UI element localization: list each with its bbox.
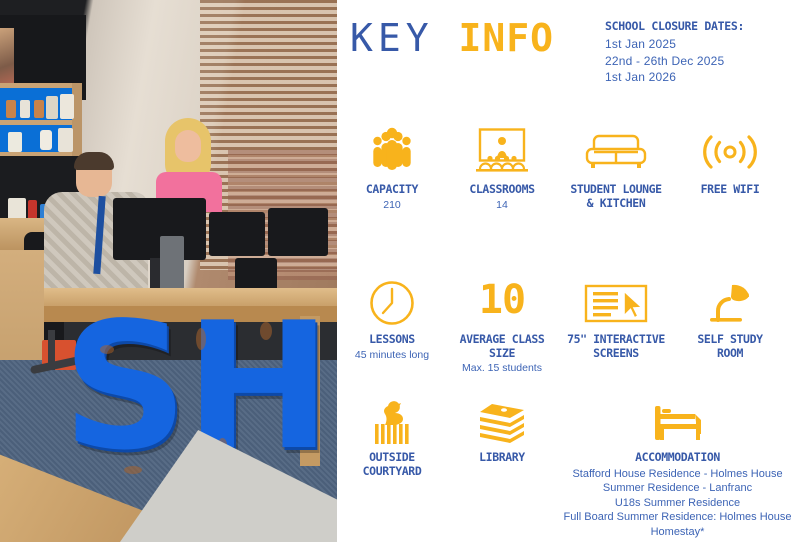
sign-letter-s: S (62, 300, 188, 475)
bed-icon (557, 400, 798, 444)
feature-label: LESSONS (337, 333, 447, 347)
photo-monitor-3 (268, 208, 328, 256)
photo-paint-wear-4 (124, 466, 142, 474)
photo-shelf-trophy-1 (6, 100, 16, 118)
feature-interactive-screens: 75" INTERACTIVE SCREENS (557, 274, 675, 360)
feature-capacity: CAPACITY 210 (337, 124, 447, 212)
accommodation-options: Stafford House Residence - Holmes House … (557, 467, 798, 540)
key-info-page: S H KEY INFO SCHOOL CLOSURE DATES: 1st J… (0, 0, 798, 542)
feature-outside-courtyard: OUTSIDE COURTYARD (337, 400, 447, 478)
average-class-size-number: 10 (479, 278, 525, 322)
wifi-icon (675, 124, 785, 176)
photo-wall-artwork (0, 28, 14, 90)
feature-sub: Max. 15 students (447, 361, 557, 375)
feature-label: STUDENT LOUNGE & KITCHEN (557, 183, 675, 210)
photo-shelf-trophy-3 (34, 100, 44, 118)
feature-value: 14 (447, 198, 557, 212)
sofa-icon (557, 124, 675, 176)
feature-accommodation: ACCOMMODATION Stafford House Residence -… (557, 400, 798, 539)
feature-average-class-size: 10 AVERAGE CLASS SIZE Max. 15 students (447, 274, 557, 375)
classroom-icon (447, 124, 557, 176)
people-group-icon (337, 124, 447, 176)
photo-shelf-middle (0, 120, 78, 125)
feature-free-wifi: FREE WIFI (675, 124, 785, 197)
photo-person-man-hair (74, 152, 114, 170)
feature-value: 210 (337, 198, 447, 212)
feature-lessons: LESSONS 45 minutes long (337, 274, 447, 362)
photo-paint-wear-3 (260, 322, 272, 340)
photo-person-woman-face (175, 130, 201, 162)
bird-fence-icon (337, 400, 447, 444)
photo-shelf-mug (8, 132, 22, 152)
feature-label: OUTSIDE COURTYARD (337, 451, 447, 478)
feature-label: FREE WIFI (675, 183, 785, 197)
feature-library: LIBRARY (447, 400, 557, 465)
photo-shelf-frame (60, 94, 74, 119)
number-10-icon: 10 (447, 274, 557, 326)
photo-monitor-2 (209, 212, 265, 256)
feature-label: CAPACITY (337, 183, 447, 197)
photo-pc-tower (160, 236, 184, 292)
photo-shelf-vase (40, 130, 52, 150)
feature-self-study-room: SELF STUDY ROOM (675, 274, 785, 360)
features-grid: CAPACITY 210 (337, 0, 798, 542)
feature-label: CLASSROOMS (447, 183, 557, 197)
feature-label: SELF STUDY ROOM (675, 333, 785, 360)
photo-paint-wear-2 (196, 328, 206, 350)
desk-lamp-icon (675, 274, 785, 326)
books-stack-icon (447, 400, 557, 444)
feature-classrooms: CLASSROOMS 14 (447, 124, 557, 212)
interactive-screen-icon (557, 274, 675, 326)
feature-sub: 45 minutes long (337, 348, 447, 362)
photo-shelf-frame-2 (58, 128, 73, 152)
photo-shelf-book (46, 96, 58, 119)
feature-label: 75" INTERACTIVE SCREENS (557, 333, 675, 360)
key-info-panel: KEY INFO SCHOOL CLOSURE DATES: 1st Jan 2… (337, 0, 798, 542)
school-reception-photo: S H (0, 0, 337, 542)
accommodation-label: ACCOMMODATION (557, 451, 798, 465)
feature-student-lounge: STUDENT LOUNGE & KITCHEN (557, 124, 675, 210)
clock-icon (337, 274, 447, 326)
feature-label: LIBRARY (447, 451, 557, 465)
feature-label: AVERAGE CLASS SIZE (447, 333, 557, 360)
photo-paint-wear-1 (100, 345, 114, 354)
photo-shelf-trophy-2 (20, 100, 30, 118)
